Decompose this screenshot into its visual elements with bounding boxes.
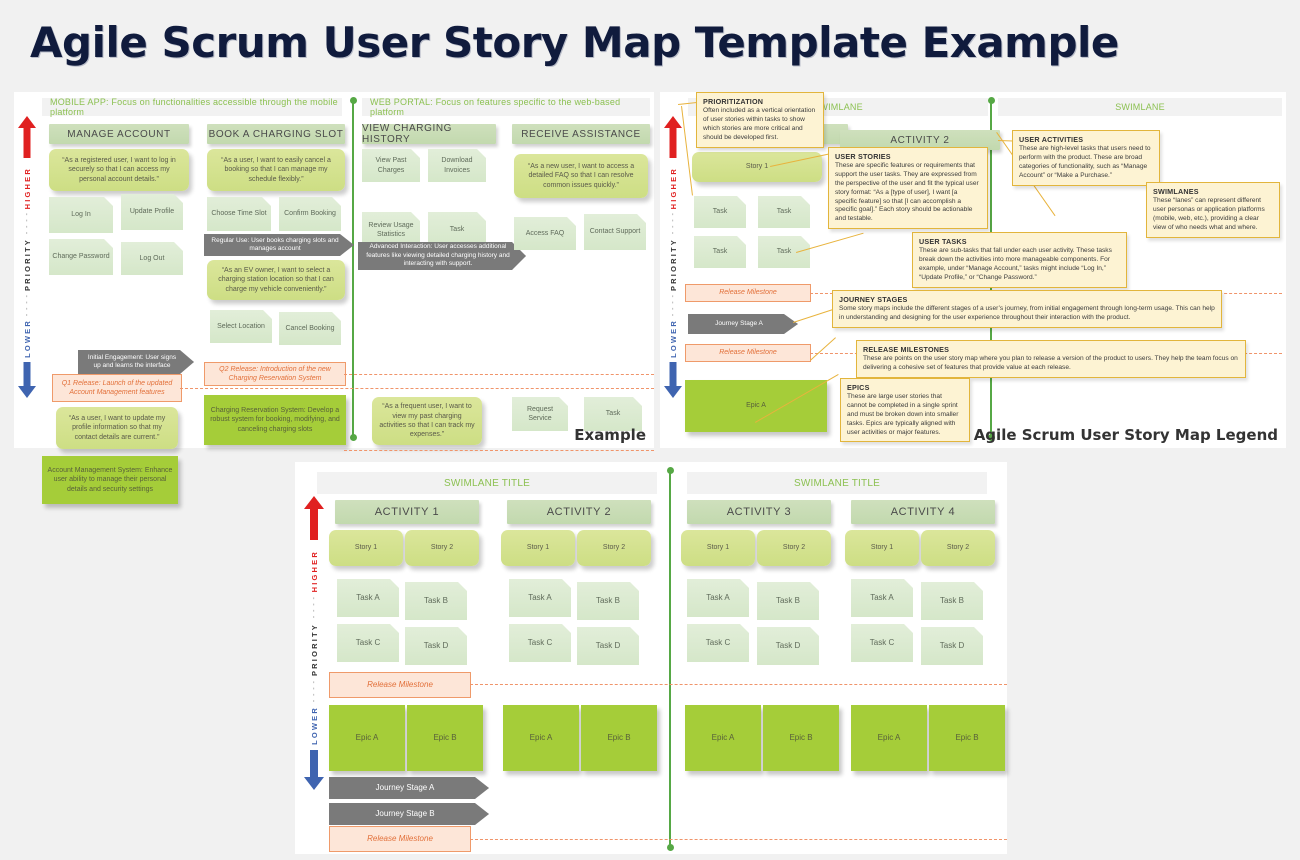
leader-line xyxy=(810,337,836,361)
task-card[interactable]: Cancel Booking xyxy=(279,312,341,345)
task-card-legend[interactable]: Task xyxy=(758,236,810,268)
journey-stage[interactable]: Initial Engagement: User signs up and le… xyxy=(78,350,194,374)
epic-card[interactable]: Epic B xyxy=(763,705,839,771)
journey-stage-legend[interactable]: Journey Stage A xyxy=(688,314,798,334)
release-milestone-legend[interactable]: Release Milestone xyxy=(685,344,811,362)
epic-card[interactable]: Epic B xyxy=(929,705,1005,771)
legend-corner-label: Agile Scrum User Story Map Legend xyxy=(974,426,1278,444)
priority-axis-legend: HIGHER - - - - PRIORITY - - - - LOWER xyxy=(662,94,684,446)
release-milestone[interactable]: Q2 Release: Introduction of the new Char… xyxy=(204,362,346,386)
axis-label-lower: LOWER xyxy=(23,319,32,358)
journey-stage-a[interactable]: Journey Stage A xyxy=(329,777,489,799)
story-card[interactable]: “As an EV owner, I want to select a char… xyxy=(207,260,345,300)
task-card[interactable]: Request Service xyxy=(512,397,568,431)
legend-panel: HIGHER - - - - PRIORITY - - - - LOWER SW… xyxy=(660,92,1286,448)
journey-stage[interactable]: Regular Use: User books charging slots a… xyxy=(204,234,354,256)
epic-card[interactable]: Epic A xyxy=(503,705,579,771)
callout-user-stories: USER STORIES These are specific features… xyxy=(828,147,988,229)
activity-1[interactable]: ACTIVITY 1 xyxy=(335,500,479,524)
release-line-bottom xyxy=(470,839,1007,840)
task-card[interactable]: Task A xyxy=(687,579,749,617)
axis-label-priority: PRIORITY xyxy=(23,238,32,291)
epic-card[interactable]: Account Management System: Enhance user … xyxy=(42,456,178,504)
story-card[interactable]: “As a user, I want to update my profile … xyxy=(56,407,178,449)
task-card[interactable]: Task C xyxy=(851,624,913,662)
release-line xyxy=(344,374,654,375)
story-card[interactable]: Story 2 xyxy=(757,530,831,566)
story-card[interactable]: “As a new user, I want to access a detai… xyxy=(514,154,648,198)
arrow-up-icon xyxy=(303,496,325,545)
activity-receive-assistance[interactable]: RECEIVE ASSISTANCE xyxy=(512,124,650,144)
task-card[interactable]: Change Password xyxy=(49,239,113,275)
task-card[interactable]: Contact Support xyxy=(584,214,646,250)
story-card[interactable]: “As a user, I want to easily cancel a bo… xyxy=(207,149,345,191)
axis-dash-lower: - - - - xyxy=(24,294,31,316)
journey-stage-b[interactable]: Journey Stage B xyxy=(329,803,489,825)
activity-view-history[interactable]: VIEW CHARGING HISTORY xyxy=(362,124,496,144)
callout-swimlanes: SWIMLANES These “lanes” can represent di… xyxy=(1146,182,1280,238)
axis-label-higher: HIGHER xyxy=(310,550,319,592)
task-card[interactable]: Task C xyxy=(687,624,749,662)
task-card[interactable]: Task A xyxy=(509,579,571,617)
example-corner-label: Example xyxy=(574,426,646,444)
swimlane-title-left: SWIMLANE TITLE xyxy=(317,472,657,494)
swimlane-header-web: WEB PORTAL: Focus on features specific t… xyxy=(362,98,650,116)
task-card-legend[interactable]: Task xyxy=(694,236,746,268)
axis-label-higher: HIGHER xyxy=(669,167,678,209)
story-card[interactable]: Story 1 xyxy=(845,530,919,566)
axis-dash-lower: - - - - xyxy=(670,294,677,316)
axis-label-priority: PRIORITY xyxy=(310,623,319,676)
journey-stage[interactable]: Advanced Interaction: User accesses addi… xyxy=(358,242,526,270)
task-card[interactable]: Task D xyxy=(577,627,639,665)
axis-label-higher: HIGHER xyxy=(23,167,32,209)
axis-label-priority: PRIORITY xyxy=(669,238,678,291)
release-milestone[interactable]: Q1 Release: Launch of the updated Accoun… xyxy=(52,374,182,402)
axis-label-lower: LOWER xyxy=(310,706,319,745)
release-milestone-legend[interactable]: Release Milestone xyxy=(685,284,811,302)
activity-4[interactable]: ACTIVITY 4 xyxy=(851,500,995,524)
axis-dash-lower: - - - - xyxy=(311,680,318,702)
task-card[interactable]: Update Profile xyxy=(121,194,183,230)
priority-axis-template: HIGHER - - - - PRIORITY - - - - LOWER xyxy=(303,496,325,848)
task-card[interactable]: Task B xyxy=(757,582,819,620)
task-card[interactable]: Task D xyxy=(757,627,819,665)
epic-card[interactable]: Charging Reservation System: Develop a r… xyxy=(204,395,346,445)
activity-2[interactable]: ACTIVITY 2 xyxy=(507,500,651,524)
axis-label-lower: LOWER xyxy=(669,319,678,358)
task-card[interactable]: Task B xyxy=(921,582,983,620)
task-card[interactable]: Confirm Booking xyxy=(279,197,341,231)
callout-epics: EPICS These are large user stories that … xyxy=(840,378,970,442)
task-card[interactable]: Select Location xyxy=(210,310,272,343)
task-card[interactable]: Task B xyxy=(405,582,467,620)
callout-prioritization: PRIORITIZATION Often included as a verti… xyxy=(696,92,824,148)
task-card[interactable]: View Past Charges xyxy=(362,149,420,182)
story-card[interactable]: “As a registered user, I want to log in … xyxy=(49,149,189,191)
arrow-up-icon xyxy=(17,116,37,163)
release-line xyxy=(344,450,654,451)
story-card[interactable]: Story 2 xyxy=(405,530,479,566)
swimlane-header-mobile: MOBILE APP: Focus on functionalities acc… xyxy=(42,98,342,116)
story-card[interactable]: “As a frequent user, I want to view my p… xyxy=(372,397,482,445)
page-title: Agile Scrum User Story Map Template Exam… xyxy=(30,18,1119,67)
story-card-legend[interactable]: Story 1 xyxy=(692,152,822,182)
epic-card[interactable]: Epic B xyxy=(407,705,483,771)
arrow-down-icon xyxy=(663,362,683,403)
story-card[interactable]: Story 1 xyxy=(681,530,755,566)
release-line-top xyxy=(470,684,1007,685)
task-card[interactable]: Log In xyxy=(49,197,113,233)
axis-dash-upper: - - - - xyxy=(670,212,677,234)
epic-card[interactable]: Epic A xyxy=(851,705,927,771)
task-card[interactable]: Download Invoices xyxy=(428,149,486,182)
task-card-legend[interactable]: Task xyxy=(694,196,746,228)
epic-card[interactable]: Epic A xyxy=(329,705,405,771)
task-card[interactable]: Task A xyxy=(851,579,913,617)
task-card[interactable]: Choose Time Slot xyxy=(207,197,271,231)
release-line xyxy=(180,388,654,389)
task-card[interactable]: Log Out xyxy=(121,242,183,275)
story-card[interactable]: Story 1 xyxy=(501,530,575,566)
swimlane-divider xyxy=(669,470,671,848)
task-card-legend[interactable]: Task xyxy=(758,196,810,228)
release-milestone-top[interactable]: Release Milestone xyxy=(329,672,471,698)
release-milestone-bottom[interactable]: Release Milestone xyxy=(329,826,471,852)
swimlane-header-legend-2: SWIMLANE xyxy=(998,98,1282,116)
story-card[interactable]: Story 2 xyxy=(577,530,651,566)
template-panel: HIGHER - - - - PRIORITY - - - - LOWER SW… xyxy=(295,462,1007,854)
task-card[interactable]: Task D xyxy=(405,627,467,665)
axis-dash-upper: - - - - xyxy=(24,212,31,234)
swimlane-title-right: SWIMLANE TITLE xyxy=(687,472,987,494)
arrow-up-icon xyxy=(663,116,683,163)
callout-journey-stages: JOURNEY STAGES Some story maps include t… xyxy=(832,290,1222,328)
task-card[interactable]: Access FAQ xyxy=(514,217,576,250)
task-card[interactable]: Task A xyxy=(337,579,399,617)
epic-card[interactable]: Epic B xyxy=(581,705,657,771)
task-card[interactable]: Task C xyxy=(509,624,571,662)
activity-3[interactable]: ACTIVITY 3 xyxy=(687,500,831,524)
arrow-down-icon xyxy=(303,750,325,795)
axis-dash-upper: - - - - xyxy=(311,596,318,618)
epic-card-legend[interactable]: Epic A xyxy=(685,380,827,432)
arrow-down-icon xyxy=(17,362,37,403)
task-card[interactable]: Task D xyxy=(921,627,983,665)
epic-card[interactable]: Epic A xyxy=(685,705,761,771)
priority-axis-example: HIGHER - - - - PRIORITY - - - - LOWER xyxy=(16,94,38,446)
story-card[interactable]: Story 1 xyxy=(329,530,403,566)
task-card[interactable]: Task C xyxy=(337,624,399,662)
callout-release-milestones: RELEASE MILESTONES These are points on t… xyxy=(856,340,1246,378)
story-card[interactable]: Story 2 xyxy=(921,530,995,566)
task-card[interactable]: Task B xyxy=(577,582,639,620)
activity-manage-account[interactable]: MANAGE ACCOUNT xyxy=(49,124,189,144)
callout-user-tasks: USER TASKS These are sub-tasks that fall… xyxy=(912,232,1127,288)
example-panel: HIGHER - - - - PRIORITY - - - - LOWER MO… xyxy=(14,92,654,448)
callout-user-activities: USER ACTIVITIES These are high-level tas… xyxy=(1012,130,1160,186)
activity-book-slot[interactable]: BOOK A CHARGING SLOT xyxy=(207,124,345,144)
